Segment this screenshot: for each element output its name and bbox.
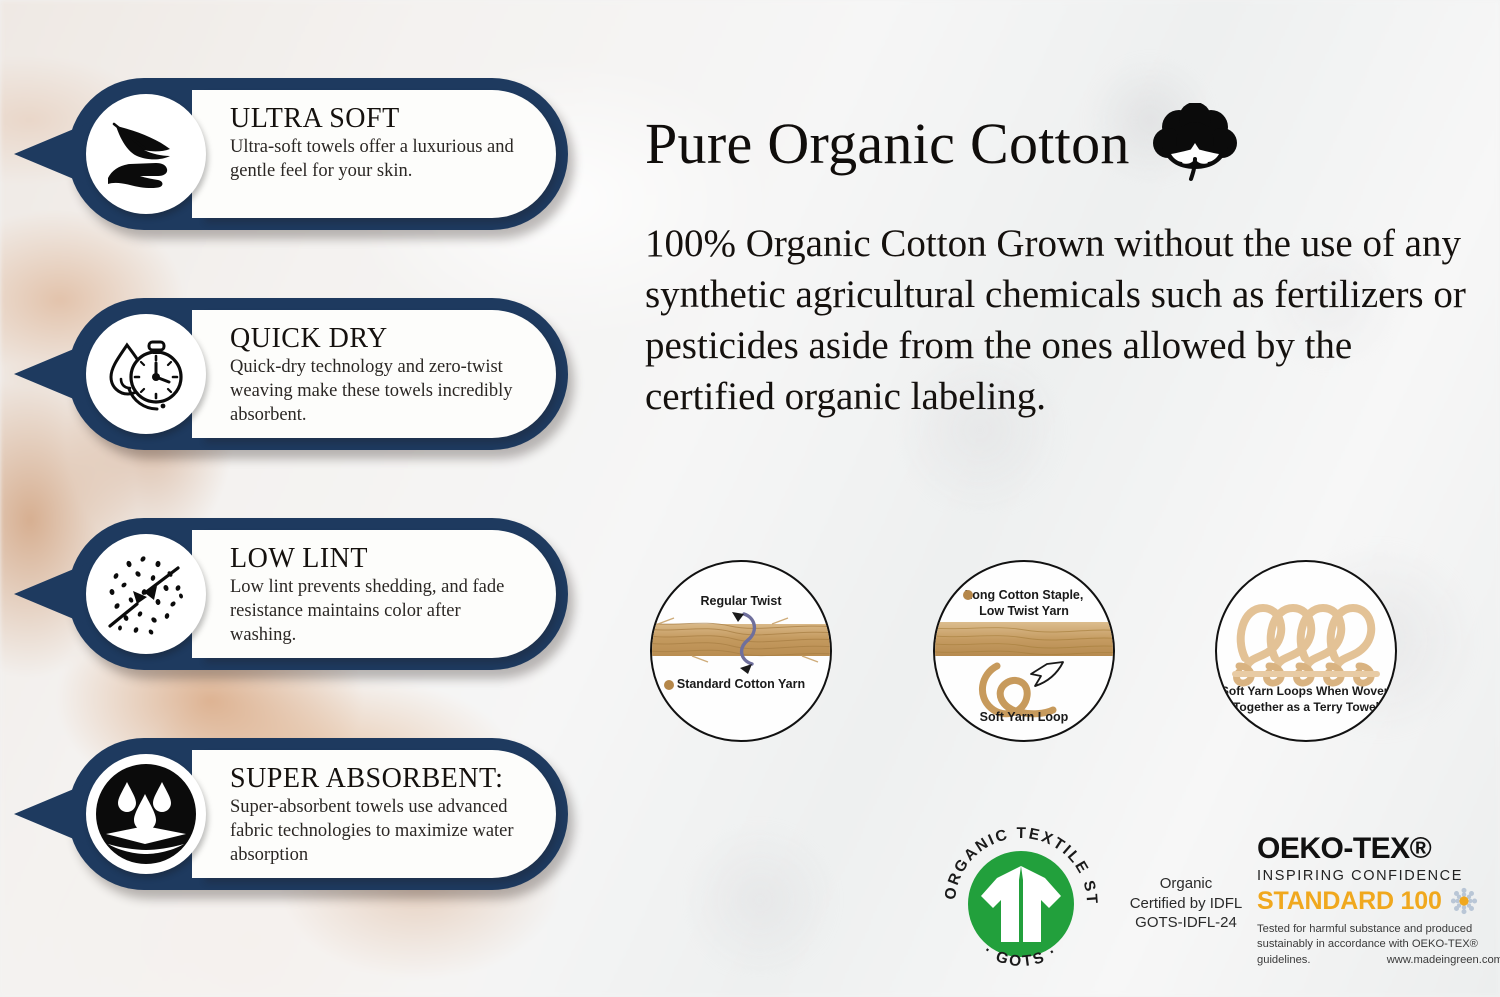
water-drop-stopwatch-icon <box>86 314 206 434</box>
yarn-diagram-regular-twist: Regular Twist <box>650 560 832 742</box>
feature-text-panel: SUPER ABSORBENT: Super-absorbent towels … <box>202 750 556 878</box>
gots-caption: Organic Certified by IDFL GOTS-IDFL-24 <box>1111 874 1261 933</box>
feature-card-list: ULTRA SOFT Ultra-soft towels offer a lux… <box>14 78 574 890</box>
feature-card-super-absorbent: SUPER ABSORBENT: Super-absorbent towels … <box>14 738 574 890</box>
hero-headline-row: Pure Organic Cotton <box>645 103 1238 183</box>
feature-title: ULTRA SOFT <box>230 104 522 133</box>
yarn-bottom-label: Soft Yarn Loop <box>935 710 1113 725</box>
oeko-fine-line1: Tested for harmful substance and produce… <box>1257 922 1500 937</box>
feature-title: LOW LINT <box>230 544 522 573</box>
feature-description: Ultra-soft towels offer a luxurious and … <box>230 135 522 183</box>
hero-paragraph: 100% Organic Cotton Grown without the us… <box>645 218 1473 422</box>
yarn-bottom-label-line1: Soft Yarn Loops When Woven <box>1217 684 1395 699</box>
gots-caption-line2: Certified by IDFL <box>1111 894 1261 914</box>
oeko-tex-standard: STANDARD 100 <box>1257 889 1442 914</box>
feature-text-panel: LOW LINT Low lint prevents shedding, and… <box>202 530 556 658</box>
feature-text-panel: QUICK DRY Quick-dry technology and zero-… <box>202 310 556 438</box>
feature-card-ultra-soft: ULTRA SOFT Ultra-soft towels offer a lux… <box>14 78 574 230</box>
certification-row: GLOBAL ORGANIC TEXTILE STANDARD · GOTS ·… <box>645 812 1485 987</box>
lint-particles-icon <box>86 534 206 654</box>
cotton-boll-icon <box>1152 103 1238 183</box>
feature-card-quick-dry: QUICK DRY Quick-dry technology and zero-… <box>14 298 574 450</box>
oeko-tex-website: www.madeingreen.com <box>1387 953 1500 968</box>
oeko-fine-line3: guidelines. <box>1257 953 1311 968</box>
feature-description: Super-absorbent towels use advanced fabr… <box>230 795 522 867</box>
terry-towel-loops-icon <box>1217 562 1397 742</box>
yarn-diagram-low-twist: Long Cotton Staple, Low Twist Yarn <box>933 560 1115 742</box>
content-column: Pure Organic Cotton 100% Organic Cotton … <box>645 0 1485 997</box>
oeko-tex-flower-icon <box>1450 887 1478 915</box>
yarn-diagram-terry-loops: Soft Yarn Loops When Woven Together as a… <box>1215 560 1397 742</box>
yarn-bottom-label-line2: Together as a Terry Towel <box>1217 700 1395 715</box>
feature-title: QUICK DRY <box>230 324 522 353</box>
gots-logo-icon: GLOBAL ORGANIC TEXTILE STANDARD · GOTS · <box>937 820 1105 988</box>
page-title: Pure Organic Cotton <box>645 110 1130 177</box>
gots-caption-line1: Organic <box>1111 874 1261 894</box>
oeko-fine-line2: sustainably in accordance with OEKO-TEX® <box>1257 937 1500 952</box>
gots-caption-line3: GOTS-IDFL-24 <box>1111 913 1261 933</box>
feature-title: SUPER ABSORBENT: <box>230 764 522 793</box>
feature-text-panel: ULTRA SOFT Ultra-soft towels offer a lux… <box>202 90 556 218</box>
yarn-bottom-label: Standard Cotton Yarn <box>652 677 830 692</box>
oeko-tex-subtitle: INSPIRING CONFIDENCE <box>1257 868 1497 884</box>
water-absorption-icon <box>86 754 206 874</box>
oeko-tex-block: OEKO-TEX® INSPIRING CONFIDENCE STANDARD … <box>1257 834 1497 968</box>
oeko-tex-standard-row: STANDARD 100 <box>1257 887 1497 915</box>
oeko-tex-fine-print: Tested for harmful substance and produce… <box>1257 922 1500 968</box>
feature-card-low-lint: LOW LINT Low lint prevents shedding, and… <box>14 518 574 670</box>
feature-description: Quick-dry technology and zero-twist weav… <box>230 355 522 427</box>
feather-in-hand-icon <box>86 94 206 214</box>
feature-description: Low lint prevents shedding, and fade res… <box>230 575 522 647</box>
regular-twist-yarn-icon <box>652 562 832 742</box>
oeko-tex-title: OEKO-TEX® <box>1257 834 1497 864</box>
yarn-diagram-row: Regular Twist <box>645 560 1485 760</box>
